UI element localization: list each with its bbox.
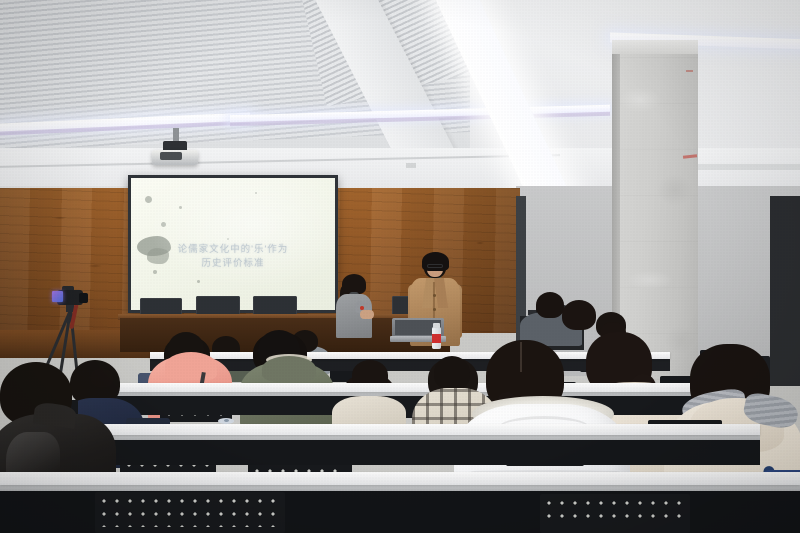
camera-lcd-screen — [52, 291, 63, 302]
slide-title-line-2: 历史评价标准 — [135, 257, 331, 271]
plaid-coat-student-head — [434, 356, 470, 390]
disc-center — [224, 419, 229, 422]
lapel-pin-icon — [360, 306, 364, 310]
pillar-red-mark-small — [686, 70, 693, 72]
water-bottle-label — [432, 334, 441, 343]
projector-lens — [160, 152, 182, 160]
water-bottle-cap — [433, 323, 440, 328]
woman-presenter-hair — [342, 274, 366, 294]
seated-person-head — [536, 292, 564, 318]
desk-surface-front — [0, 472, 800, 485]
olive-jacket-hood — [262, 356, 316, 382]
chair-back-front[interactable] — [95, 492, 285, 533]
coat-button — [433, 294, 436, 297]
desk-surface — [40, 424, 760, 435]
desk-edge-front — [0, 484, 800, 491]
doorway-right[interactable] — [770, 196, 800, 386]
seated-person-head — [562, 300, 596, 330]
pink-coat-hood — [165, 352, 217, 380]
coat-button — [433, 308, 436, 311]
lecture-hall-photo: 论儒家文化中的'乐'作为 历史评价标准 — [0, 0, 800, 533]
hair-parting — [520, 342, 522, 372]
seated-person-head — [90, 368, 114, 388]
ceiling-vent-icon — [690, 164, 800, 170]
chair-back-front[interactable] — [540, 494, 690, 533]
man-presenter-hair — [422, 252, 449, 271]
camera-lens — [79, 293, 88, 303]
slide-title-line-1: 论儒家文化中的'乐'作为 — [135, 243, 331, 257]
concrete-pillar-cap — [612, 40, 698, 54]
eyeglasses-icon — [427, 264, 443, 268]
woman-presenter-hands-clapping — [360, 310, 374, 319]
desk-panel — [40, 439, 760, 465]
slide-title: 论儒家文化中的'乐'作为 历史评价标准 — [135, 243, 331, 271]
concrete-pillar-texture — [620, 40, 698, 380]
ceiling-vent-small-icon — [406, 163, 416, 168]
desk-surface — [95, 383, 705, 392]
